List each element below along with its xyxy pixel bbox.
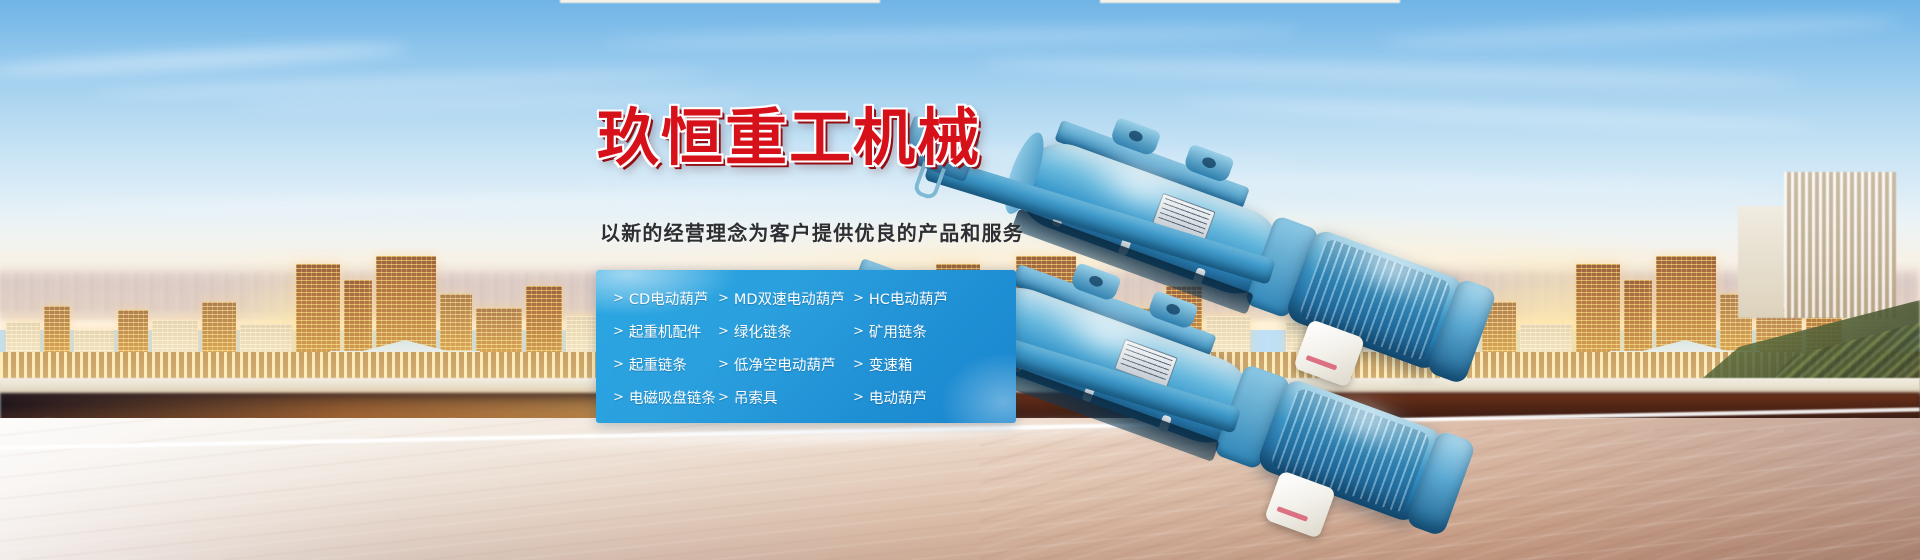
hero-banner: 玖恒重工机械 以新的经营理念为客户提供优良的产品和服务 > CD电动葫芦 > M… <box>0 0 1920 560</box>
product-link-label: CD电动葫芦 <box>629 288 708 309</box>
product-link-electric-hoist[interactable]: > 电动葫芦 <box>853 387 968 408</box>
chevron-right-icon: > <box>718 324 729 339</box>
product-link-label: 起重链条 <box>629 354 687 375</box>
product-link-label: 吊索具 <box>734 387 778 408</box>
product-links-grid: > CD电动葫芦 > MD双速电动葫芦 > HC电动葫芦 > 起重机配件 > 绿… <box>613 270 1016 423</box>
product-link-mining-chain[interactable]: > 矿用链条 <box>853 321 968 342</box>
chevron-right-icon: > <box>853 357 864 372</box>
product-link-label: 绿化链条 <box>734 321 792 342</box>
product-link-slings[interactable]: > 吊索具 <box>718 387 853 408</box>
product-link-cd-hoist[interactable]: > CD电动葫芦 <box>613 288 718 309</box>
chevron-right-icon: > <box>613 291 624 306</box>
chevron-right-icon: > <box>718 390 729 405</box>
product-link-greening-chain[interactable]: > 绿化链条 <box>718 321 853 342</box>
chevron-right-icon: > <box>853 291 864 306</box>
chevron-right-icon: > <box>613 357 624 372</box>
building-cluster <box>0 248 640 382</box>
product-link-crane-parts[interactable]: > 起重机配件 <box>613 321 718 342</box>
product-link-label: HC电动葫芦 <box>869 288 948 309</box>
chevron-right-icon: > <box>613 390 624 405</box>
page-title: 玖恒重工机械 <box>597 107 981 169</box>
product-link-md-dual-speed-hoist[interactable]: > MD双速电动葫芦 <box>718 288 853 309</box>
product-link-label: 电动葫芦 <box>869 387 927 408</box>
chevron-right-icon: > <box>613 324 624 339</box>
product-link-magnetic-chuck-chain[interactable]: > 电磁吸盘链条 <box>613 387 718 408</box>
page-subtitle: 以新的经营理念为客户提供优良的产品和服务 <box>600 217 1024 246</box>
product-link-label: 变速箱 <box>869 354 913 375</box>
electric-hoist-product-group <box>860 40 1920 460</box>
product-link-hc-hoist[interactable]: > HC电动葫芦 <box>853 288 968 309</box>
product-link-low-headroom-hoist[interactable]: > 低净空电动葫芦 <box>718 354 853 375</box>
chevron-right-icon: > <box>853 324 864 339</box>
product-link-label: 电磁吸盘链条 <box>629 387 716 408</box>
product-link-label: MD双速电动葫芦 <box>734 288 845 309</box>
chevron-right-icon: > <box>853 390 864 405</box>
product-links-panel: > CD电动葫芦 > MD双速电动葫芦 > HC电动葫芦 > 起重机配件 > 绿… <box>596 270 1016 423</box>
product-link-gearbox[interactable]: > 变速箱 <box>853 354 968 375</box>
product-link-lifting-chain[interactable]: > 起重链条 <box>613 354 718 375</box>
chevron-right-icon: > <box>718 291 729 306</box>
product-link-label: 起重机配件 <box>629 321 702 342</box>
chevron-right-icon: > <box>718 357 729 372</box>
product-link-label: 低净空电动葫芦 <box>734 354 836 375</box>
product-link-label: 矿用链条 <box>869 321 927 342</box>
